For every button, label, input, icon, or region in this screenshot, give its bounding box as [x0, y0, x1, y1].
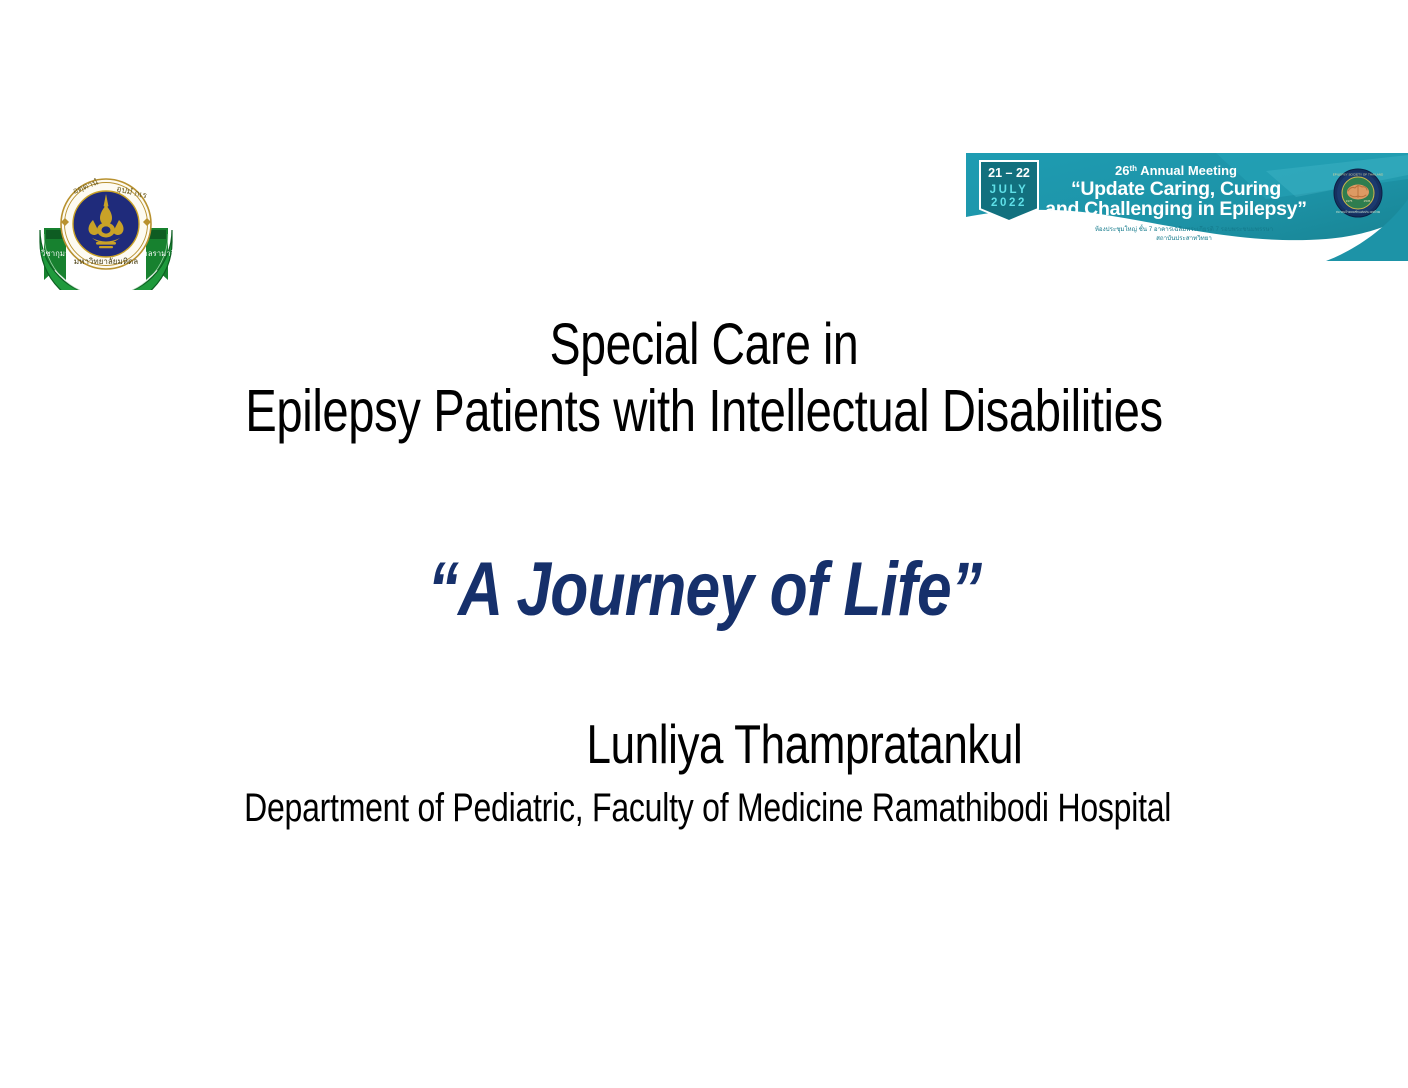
institute-emblem: EPILEPSY SOCIETY OF THAILAND สมาคมโรคลมช…: [1333, 169, 1384, 217]
subtitle-quote: “A Journey of Life”: [0, 546, 1408, 633]
date-badge: 21 – 22 JULY 2022: [980, 161, 1038, 221]
organization-logo: ภาควิชากุมารเวชศาสตร์ โรงพยาบาลรามาธิบดี…: [30, 172, 182, 290]
venue-line-1: ห้องประชุมใหญ่ ชั้น 7 อาคารเฉลิมพระเกียร…: [1095, 224, 1273, 233]
theme-line-2: and Challenging in Epilepsy”: [1045, 198, 1306, 220]
meeting-ordinal-suffix: th: [1129, 164, 1137, 173]
author-name: Lunliya Thampratankul: [0, 712, 1408, 776]
badge-month: JULY: [990, 184, 1029, 196]
venue-line-2: สถาบันประสาทวิทยา: [1156, 235, 1212, 242]
title-line-1: Special Care in: [141, 312, 1267, 378]
meeting-label: Annual Meeting: [1140, 163, 1237, 178]
ring-text-bottom: มหาวิทยาลัยมหิดล: [74, 257, 138, 266]
badge-year: 2022: [991, 197, 1027, 209]
conference-banner: 21 – 22 JULY 2022 26th Annual Meeting “U…: [966, 153, 1408, 261]
brain-icon: [1347, 185, 1369, 200]
emblem-year-right: 2535: [1364, 199, 1371, 203]
page-title: Special Care in Epilepsy Patients with I…: [0, 312, 1408, 445]
author-name-text: Lunliya Thampratankul: [386, 712, 1022, 776]
emblem-bottom-text: สมาคมโรคลมชักแห่งประเทศไทย: [1336, 209, 1381, 214]
author-affiliation-text: Department of Pediatric, Faculty of Medi…: [237, 786, 1170, 831]
presentation-title-slide: ภาควิชากุมารเวชศาสตร์ โรงพยาบาลรามาธิบดี…: [0, 0, 1408, 1088]
emblem-year-left: 1975: [1346, 199, 1353, 203]
subtitle-quote-text: “A Journey of Life”: [427, 546, 980, 633]
title-line-2: Epilepsy Patients with Intellectual Disa…: [141, 378, 1267, 445]
meeting-ordinal: 26: [1115, 163, 1129, 178]
author-affiliation: Department of Pediatric, Faculty of Medi…: [0, 786, 1408, 831]
theme-line-1: “Update Caring, Curing: [1071, 178, 1281, 200]
badge-days: 21 – 22: [988, 166, 1030, 180]
emblem-top-text: EPILEPSY SOCIETY OF THAILAND: [1333, 173, 1384, 177]
banner-artwork: 21 – 22 JULY 2022 26th Annual Meeting “U…: [966, 153, 1408, 261]
